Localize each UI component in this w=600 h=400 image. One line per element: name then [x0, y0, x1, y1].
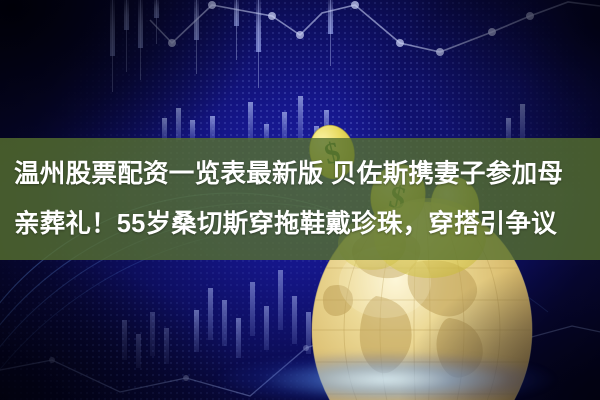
- headline-band: 温州股票配资一览表最新版 贝佐斯携妻子参加母 亲葬礼！55岁桑切斯穿拖鞋戴珍珠，…: [0, 138, 600, 260]
- banner-image: $ $ 温州股票配资一览表最新版 贝佐斯携妻子参加母 亲葬礼！55岁桑切斯穿拖鞋…: [0, 0, 600, 400]
- headline-line-1: 温州股票配资一览表最新版 贝佐斯携妻子参加母: [14, 149, 586, 199]
- globe-light-beam: [170, 330, 600, 400]
- headline-line-2: 亲葬礼！55岁桑切斯穿拖鞋戴珍珠，穿搭引争议: [14, 199, 586, 249]
